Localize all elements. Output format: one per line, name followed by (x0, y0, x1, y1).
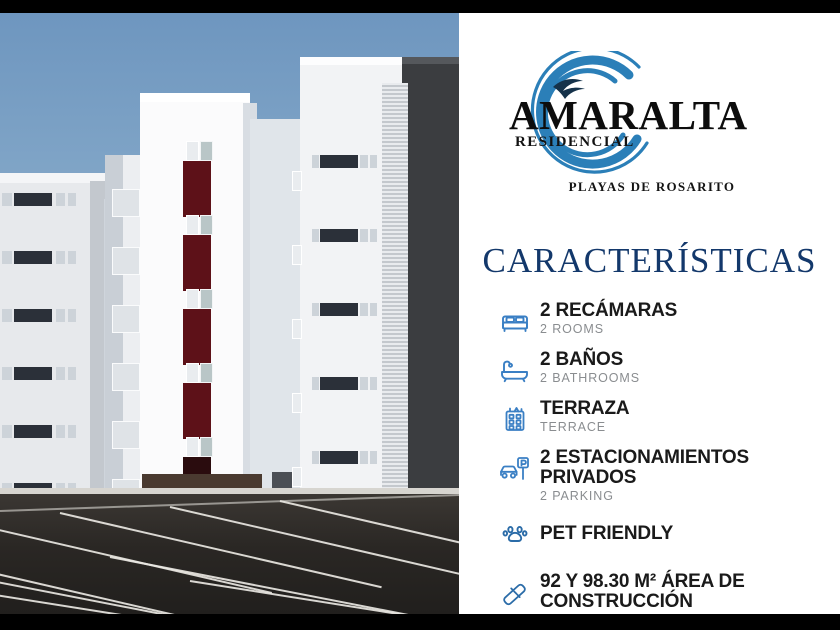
top-letterbox-bar (0, 0, 840, 13)
window (370, 303, 377, 316)
car-parking-icon (495, 448, 535, 488)
window (68, 367, 76, 380)
feature-text: 2 ESTACIONAMIENTOS PRIVADOS 2 PARKING (535, 448, 835, 505)
feature-subtitle: 2 ROOMS (540, 322, 835, 338)
window (360, 229, 368, 242)
window (112, 363, 140, 391)
window (200, 363, 213, 383)
building-terrace-icon (495, 399, 535, 439)
window (292, 171, 302, 191)
parking-stripe (0, 494, 459, 512)
brand-logo: AMARALTA RESIDENCIAL PLAYAS DE ROSARITO (487, 51, 817, 201)
window (56, 251, 65, 264)
window (360, 377, 368, 390)
parking-stripe (0, 546, 202, 614)
feature-item-bathrooms: 2 BAÑOS 2 BATHROOMS (495, 350, 835, 390)
feature-item-pet-friendly: PET FRIENDLY (495, 514, 835, 554)
window (200, 215, 213, 235)
building-roof-center (140, 93, 250, 102)
window (56, 193, 65, 206)
promo-card: AMARALTA RESIDENCIAL PLAYAS DE ROSARITO … (0, 0, 840, 630)
window (2, 309, 12, 322)
window (14, 251, 52, 264)
feature-text: 2 BAÑOS 2 BATHROOMS (535, 350, 835, 387)
window (360, 303, 368, 316)
window (320, 303, 358, 316)
window (112, 247, 140, 275)
window (186, 141, 199, 161)
window (68, 309, 76, 322)
info-panel: AMARALTA RESIDENCIAL PLAYAS DE ROSARITO … (459, 13, 840, 614)
window (112, 189, 140, 217)
feature-title: 2 RECÁMARAS (540, 301, 835, 321)
feature-title: 2 ESTACIONAMIENTOS PRIVADOS (540, 448, 835, 488)
feature-title: 2 BAÑOS (540, 350, 835, 370)
window (312, 451, 319, 464)
window (186, 363, 199, 383)
window (14, 425, 52, 438)
feature-subtitle: 2 PARKING (540, 489, 835, 505)
logo-location: PLAYAS DE ROSARITO (487, 179, 817, 195)
feature-item-bedrooms: 2 RECÁMARAS 2 ROOMS (495, 301, 835, 341)
window (56, 425, 65, 438)
logo-sub-wordmark: RESIDENCIAL (515, 135, 815, 150)
window (370, 451, 377, 464)
window (112, 421, 140, 449)
parking-stripe (280, 500, 459, 569)
window (200, 141, 213, 161)
window (312, 303, 319, 316)
window (186, 437, 199, 457)
window (292, 245, 302, 265)
window (2, 251, 12, 264)
building-roof-dark (402, 57, 459, 64)
window (292, 467, 302, 487)
window (68, 425, 76, 438)
page-title: CARACTERÍSTICAS (459, 241, 840, 281)
building-block-dark (402, 57, 459, 518)
window (360, 155, 368, 168)
feature-subtitle: 2 BATHROOMS (540, 371, 835, 387)
window (14, 367, 52, 380)
feature-title: TERRAZA (540, 399, 835, 419)
window (312, 377, 319, 390)
logo-wordmark: AMARALTA (509, 95, 809, 136)
window (320, 451, 358, 464)
window (14, 309, 52, 322)
bottom-letterbox-bar (0, 614, 840, 630)
window (312, 155, 319, 168)
bed-icon (495, 301, 535, 341)
window (312, 229, 319, 242)
window (320, 155, 358, 168)
window (370, 229, 377, 242)
feature-subtitle: TERRACE (540, 420, 835, 436)
window (370, 155, 377, 168)
window (200, 289, 213, 309)
window (320, 377, 358, 390)
accent-column-3 (183, 309, 211, 365)
window (56, 367, 65, 380)
window (360, 451, 368, 464)
window (2, 367, 12, 380)
window (320, 229, 358, 242)
window (2, 193, 12, 206)
window (292, 319, 302, 339)
window (112, 305, 140, 333)
paw-icon (495, 514, 535, 554)
window (186, 289, 199, 309)
building-roof-right (300, 57, 410, 65)
window (14, 193, 52, 206)
window (68, 251, 76, 264)
window (200, 437, 213, 457)
building-photo (0, 13, 459, 614)
parking-lot (0, 494, 459, 614)
window (292, 393, 302, 413)
feature-title: PET FRIENDLY (540, 524, 835, 544)
accent-column-4 (183, 383, 211, 439)
accent-column-1 (183, 161, 211, 217)
feature-text: PET FRIENDLY (535, 524, 835, 544)
accent-column-2 (183, 235, 211, 291)
bathtub-icon (495, 350, 535, 390)
features-list: 2 RECÁMARAS 2 ROOMS 2 (495, 301, 835, 630)
feature-text: 2 RECÁMARAS 2 ROOMS (535, 301, 835, 338)
feature-text: TERRAZA TERRACE (535, 399, 835, 436)
window (2, 425, 12, 438)
feature-item-parking: 2 ESTACIONAMIENTOS PRIVADOS 2 PARKING (495, 448, 835, 505)
window (186, 215, 199, 235)
louver-panel (382, 83, 408, 518)
ruler-icon (495, 572, 535, 612)
window (68, 193, 76, 206)
feature-title: 92 Y 98.30 M² ÁREA DE CONSTRUCCIÓN (540, 572, 835, 612)
window (370, 377, 377, 390)
window (56, 309, 65, 322)
feature-item-terrace: TERRAZA TERRACE (495, 399, 835, 439)
